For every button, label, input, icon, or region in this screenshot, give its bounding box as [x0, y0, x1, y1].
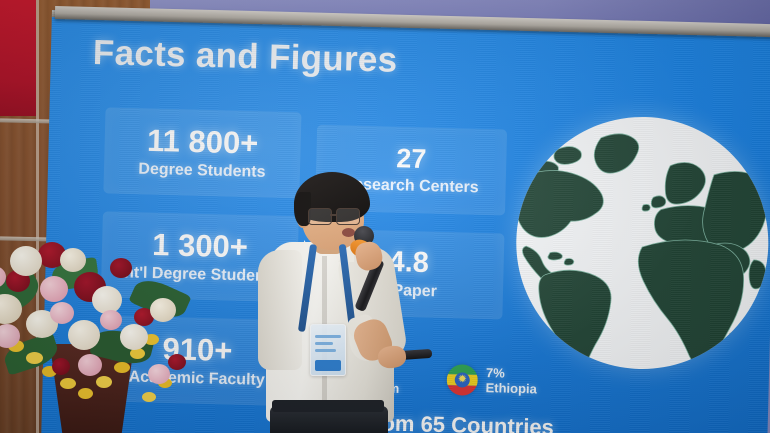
country-name: Ethiopia	[485, 381, 537, 397]
country-row-ethiopia: ✹ 7% Ethiopia	[446, 364, 537, 397]
cream-rose	[120, 324, 148, 350]
red-rose	[168, 354, 186, 370]
country-text: 7% Ethiopia	[485, 366, 537, 396]
yellow-orchid	[26, 352, 43, 364]
pink-rose	[78, 354, 102, 376]
pink-rose	[50, 302, 74, 324]
photo-scene: Facts and Figures 11 800+ Degree Student…	[0, 0, 770, 433]
red-rose	[110, 258, 132, 278]
speaker-hand-holding-clicker	[377, 345, 407, 370]
yellow-orchid	[114, 362, 130, 373]
ethiopia-flag-icon: ✹	[446, 364, 478, 396]
cream-rose	[60, 248, 86, 272]
badge-footer-band	[315, 360, 341, 371]
speaker-belt	[272, 400, 384, 412]
red-rose	[52, 358, 70, 375]
pink-rose	[148, 364, 170, 384]
cream-rose	[10, 246, 42, 276]
glasses-icon	[308, 208, 364, 223]
lanyard-badge	[310, 324, 346, 376]
flower-arrangement	[0, 236, 232, 433]
glasses-lens-right	[336, 208, 360, 225]
speaker-left-shoulder	[258, 250, 302, 370]
speaker-person	[252, 170, 432, 433]
glasses-lens-left	[308, 208, 332, 225]
yellow-orchid	[60, 378, 76, 389]
pink-rose	[40, 276, 68, 302]
cream-rose	[68, 320, 100, 350]
red-wall-panel	[0, 0, 36, 116]
badge-line	[315, 335, 341, 338]
pink-rose	[100, 310, 122, 330]
yellow-orchid	[78, 388, 93, 399]
star-icon: ✹	[458, 374, 467, 385]
badge-line	[315, 349, 336, 352]
cream-rose	[150, 298, 176, 322]
stat-value: 11 800+	[104, 124, 301, 161]
globe-icon	[513, 114, 770, 372]
badge-line	[315, 342, 333, 345]
slide-title: Facts and Figures	[92, 33, 398, 81]
yellow-orchid	[142, 392, 156, 402]
yellow-orchid	[96, 376, 112, 388]
